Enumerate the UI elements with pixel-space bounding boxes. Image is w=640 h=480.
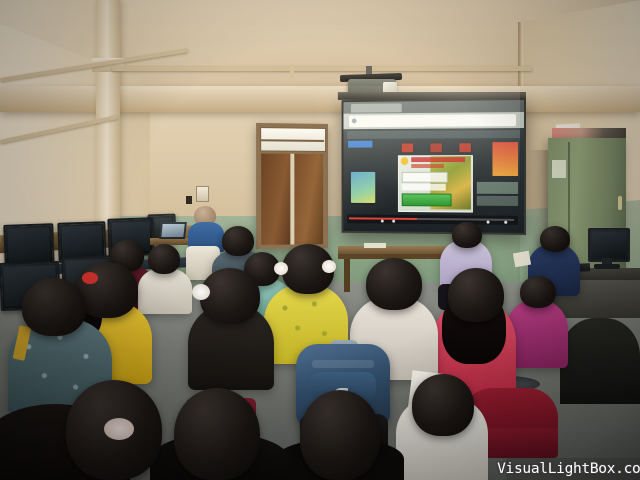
form-input-field[interactable] xyxy=(402,172,448,183)
paper-on-table xyxy=(364,243,386,248)
photo-scene: VisualLightBox.com xyxy=(0,0,640,480)
form-helper-text xyxy=(402,184,446,191)
audience-member xyxy=(138,268,192,314)
cabinet-handle[interactable] xyxy=(618,196,622,210)
door-gap xyxy=(290,154,294,245)
door-leaf-left[interactable] xyxy=(261,153,290,244)
hair-scrunchie xyxy=(192,284,210,300)
front-table xyxy=(338,246,454,254)
monitor-screen xyxy=(592,232,626,258)
watermark: VisualLightBox.com xyxy=(506,458,640,480)
backpack-strap xyxy=(312,360,374,368)
door-leaf-right[interactable] xyxy=(294,154,323,245)
nav-active-item[interactable] xyxy=(348,141,372,148)
hair-flower xyxy=(322,260,336,273)
audience-member xyxy=(560,318,640,404)
projection-screen xyxy=(342,98,526,235)
sidebar-thumbnail[interactable] xyxy=(351,172,375,203)
audience-head xyxy=(22,278,86,336)
wooden-door[interactable] xyxy=(256,123,328,249)
audience-head xyxy=(412,374,474,436)
site-logo-icon xyxy=(401,157,409,165)
address-bar[interactable] xyxy=(349,114,516,127)
monitor-screen xyxy=(61,225,102,258)
call-to-action-button[interactable] xyxy=(402,193,452,206)
table-leg xyxy=(344,258,350,292)
content-thumbnail[interactable] xyxy=(459,143,471,152)
audience-head xyxy=(174,388,260,480)
video-subheadline xyxy=(411,164,444,168)
video-headline xyxy=(411,157,465,162)
audience-head xyxy=(222,226,254,256)
monitor-screen xyxy=(7,227,50,262)
electrical-conduit xyxy=(112,66,532,71)
audience-head xyxy=(540,226,570,252)
audience-head xyxy=(520,276,556,308)
watermark-text: VisualLightBox.com xyxy=(497,461,640,477)
content-thumbnail[interactable] xyxy=(430,143,442,152)
conduit-drop xyxy=(290,64,294,80)
laptop-screen xyxy=(161,224,184,237)
workstation-monitor[interactable] xyxy=(588,228,630,262)
hair-ornament xyxy=(104,418,134,440)
site-navigation[interactable] xyxy=(347,130,520,139)
wall-poster xyxy=(186,196,192,204)
monitor-base xyxy=(594,264,620,269)
audience-head xyxy=(448,268,504,322)
lab-monitor[interactable] xyxy=(3,223,54,267)
cabinet-label xyxy=(552,160,566,178)
hair-tie xyxy=(82,272,98,284)
audience-head xyxy=(200,268,260,324)
handout-paper xyxy=(513,251,531,268)
audience-head xyxy=(366,258,422,310)
settings-icon[interactable] xyxy=(487,221,490,224)
browser-tab[interactable] xyxy=(351,103,402,112)
hair-flower xyxy=(274,262,288,275)
wall-switchboard[interactable] xyxy=(196,186,209,202)
related-item[interactable] xyxy=(477,196,518,206)
play-icon[interactable] xyxy=(381,220,384,223)
fullscreen-icon[interactable] xyxy=(504,221,507,224)
content-thumbnail[interactable] xyxy=(402,143,413,152)
volume-icon[interactable] xyxy=(392,220,395,223)
sidebar-advertisement[interactable] xyxy=(492,142,518,176)
audience-head xyxy=(452,222,482,248)
audience-head xyxy=(148,244,180,274)
audience-head xyxy=(300,390,380,480)
site-security-icon xyxy=(352,118,357,123)
related-item[interactable] xyxy=(477,182,518,194)
